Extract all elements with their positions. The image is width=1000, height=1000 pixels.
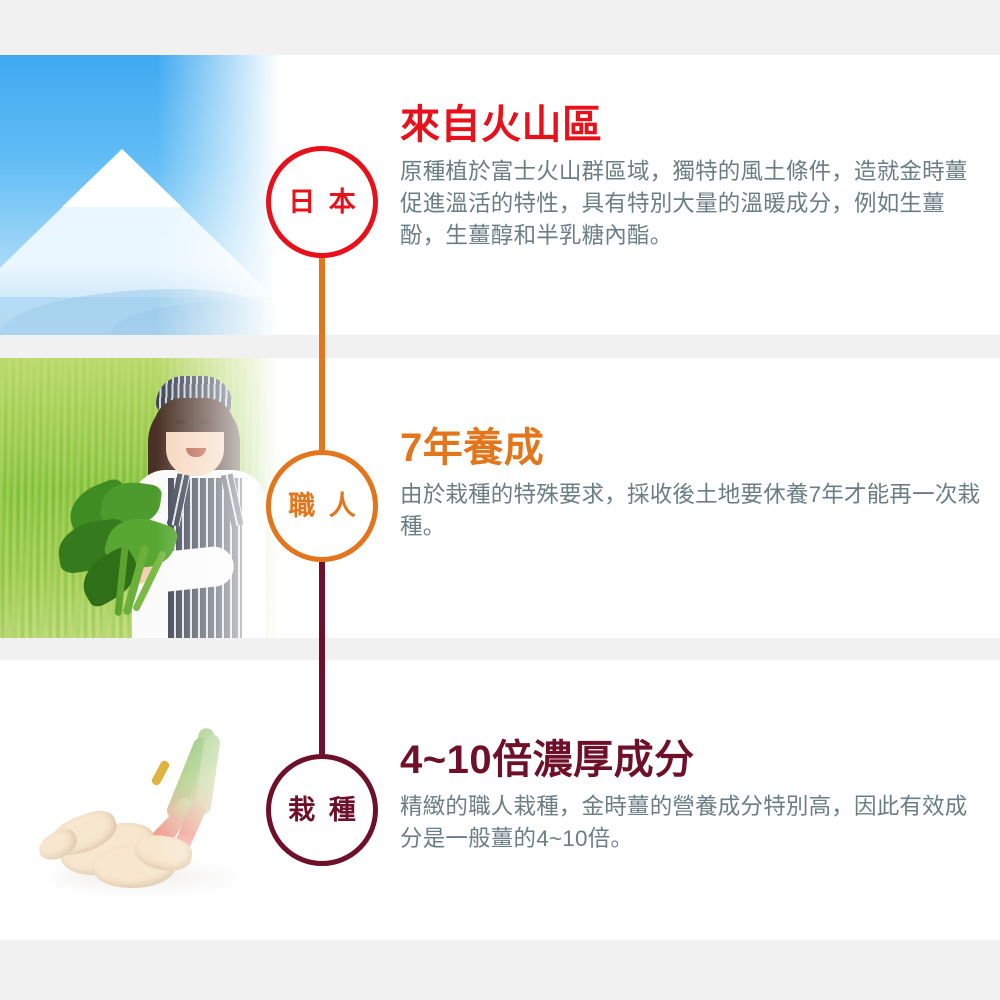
timeline-connector-orange	[319, 258, 325, 470]
infographic-root: 來自火山區 原種植於富士火山群區域，獨特的風土條件，造就金時薑促進溫活的特性，具…	[0, 0, 1000, 1000]
timeline-connector-maroon	[319, 562, 325, 774]
feature-section-japan: 來自火山區 原種植於富士火山群區域，獨特的風土條件，造就金時薑促進溫活的特性，具…	[0, 55, 1000, 335]
photo-fade-mask	[0, 358, 300, 638]
badge-craftsman[interactable]: 職 人	[266, 450, 378, 562]
body-japan: 原種植於富士火山群區域，獨特的風土條件，造就金時薑促進溫活的特性，具有特別大量的…	[400, 156, 990, 252]
headline-craftsman: 7年養成	[400, 426, 990, 471]
section-separator-2	[0, 638, 1000, 660]
badge-japan-label: 日 本	[285, 189, 359, 216]
body-craftsman: 由於栽種的特殊要求，採收後土地要休養7年才能再一次栽種。	[400, 479, 990, 543]
farmer-in-field-photo	[0, 358, 300, 638]
feature-text-craftsman: 7年養成 由於栽種的特殊要求，採收後土地要休養7年才能再一次栽種。	[400, 426, 990, 543]
badge-craftsman-label: 職 人	[285, 493, 359, 520]
body-cultivation: 精緻的職人栽種，金時薑的營養成分特別高，因此有效成分是一般薑的4~10倍。	[400, 791, 990, 855]
section-separator-1	[0, 335, 1000, 358]
photo-fade-mask	[0, 55, 300, 335]
feature-text-cultivation: 4~10倍濃厚成分 精緻的職人栽種，金時薑的營養成分特別高，因此有效成分是一般薑…	[400, 738, 990, 855]
feature-section-cultivation: 4~10倍濃厚成分 精緻的職人栽種，金時薑的營養成分特別高，因此有效成分是一般薑…	[0, 660, 1000, 940]
badge-japan[interactable]: 日 本	[266, 146, 378, 258]
feature-section-craftsman: 7年養成 由於栽種的特殊要求，採收後土地要休養7年才能再一次栽種。	[0, 358, 1000, 638]
badge-cultivation-label: 栽 種	[285, 797, 359, 824]
feature-text-japan: 來自火山區 原種植於富士火山群區域，獨特的風土條件，造就金時薑促進溫活的特性，具…	[400, 103, 990, 252]
photo-fade-mask	[0, 660, 300, 940]
headline-cultivation: 4~10倍濃厚成分	[400, 738, 990, 783]
badge-cultivation[interactable]: 栽 種	[266, 754, 378, 866]
fresh-ginger-photo	[0, 660, 300, 940]
mount-fuji-photo	[0, 55, 300, 335]
headline-japan: 來自火山區	[400, 103, 990, 148]
